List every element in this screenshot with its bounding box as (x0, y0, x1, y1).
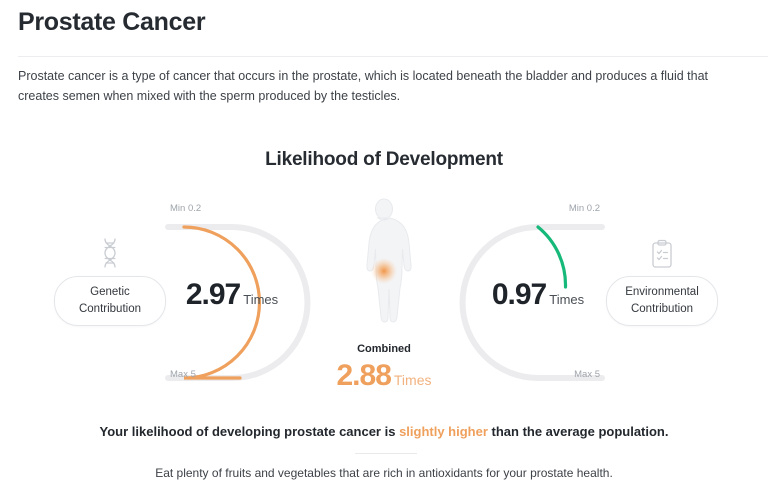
genetic-value-number: 2.97 (186, 278, 240, 311)
pill-line-2: Contribution (71, 301, 149, 318)
verdict-text: Your likelihood of developing prostate c… (0, 424, 768, 439)
verdict-before: Your likelihood of developing prostate c… (100, 424, 400, 439)
section-title: Likelihood of Development (0, 149, 768, 171)
verdict-after: than the average population. (488, 424, 669, 439)
environmental-gauge: Min 0.2 Max 5 0.97Times (450, 215, 610, 390)
environmental-contribution-block: Environmental Contribution (587, 236, 737, 326)
combined-block: Combined 2.88Times (334, 198, 434, 351)
combined-value-number: 2.88 (337, 359, 391, 392)
disease-description: Prostate cancer is a type of cancer that… (18, 66, 718, 106)
header-divider (18, 56, 768, 57)
genetic-gauge-value: 2.97Times (152, 278, 312, 312)
pill-line-1: Genetic (71, 284, 149, 301)
gauge-max-label: Max 5 (170, 369, 196, 380)
human-body-icon (334, 198, 434, 346)
gauge-min-label: Min 0.2 (170, 203, 201, 214)
genetic-value-unit: Times (243, 292, 278, 307)
health-tip: Eat plenty of fruits and vegetables that… (0, 466, 768, 480)
prostate-cancer-report: Prostate Cancer Prostate cancer is a typ… (0, 0, 768, 496)
environmental-contribution-pill[interactable]: Environmental Contribution (606, 276, 718, 326)
combined-label: Combined (334, 343, 434, 355)
combined-value-unit: Times (394, 372, 432, 388)
gauge-min-label: Min 0.2 (569, 203, 600, 214)
pill-line-1: Environmental (623, 284, 701, 301)
page-title: Prostate Cancer (18, 8, 205, 37)
pill-line-2: Contribution (623, 301, 701, 318)
prostate-hotspot (371, 258, 397, 284)
gauge-max-label: Max 5 (574, 369, 600, 380)
clipboard-checklist-icon (587, 236, 737, 272)
genetic-gauge: Min 0.2 Max 5 2.97Times (160, 215, 320, 390)
genetic-contribution-pill[interactable]: Genetic Contribution (54, 276, 166, 326)
footer-divider (355, 453, 417, 454)
environmental-value-number: 0.97 (492, 278, 546, 311)
environmental-value-unit: Times (549, 292, 584, 307)
verdict-highlight: slightly higher (399, 424, 488, 439)
combined-value: 2.88Times (304, 359, 464, 393)
